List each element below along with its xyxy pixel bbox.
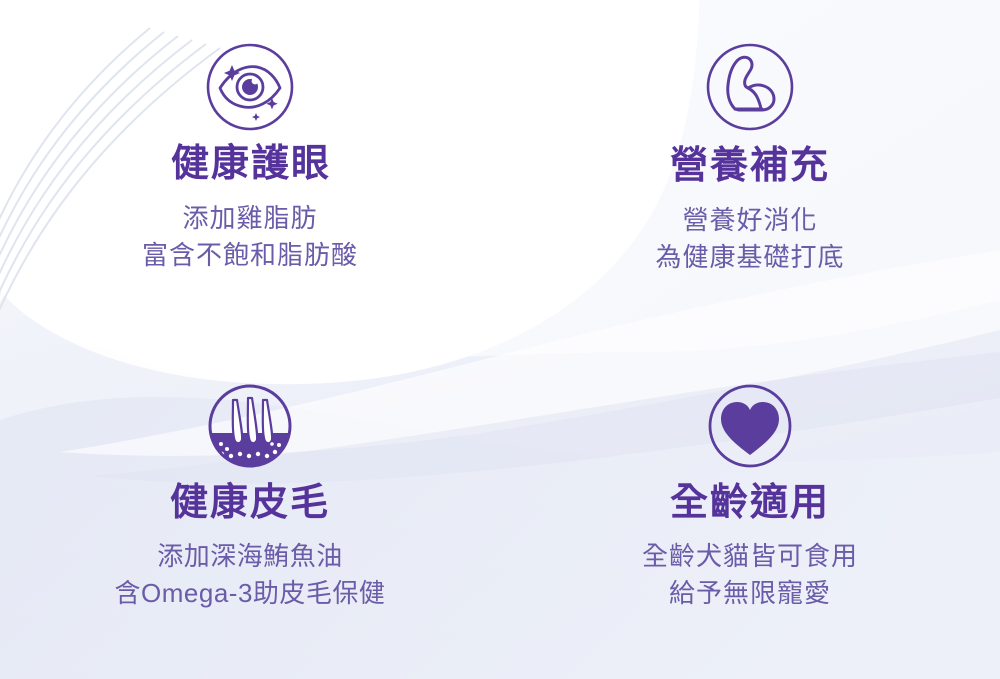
feature-card-all-ages: 全齡適用 全齡犬貓皆可食用 給予無限寵愛 [500, 340, 1000, 679]
feature-description: 添加深海鮪魚油 含Omega-3助皮毛保健 [115, 538, 386, 612]
feature-banner: 健康護眼 添加雞脂肪 富含不飽和脂肪酸 營養補充 營養好消化 為健康基礎打底 [0, 0, 1000, 679]
feature-description: 添加雞脂肪 富含不飽和脂肪酸 [142, 200, 358, 274]
hair-follicle-icon [203, 379, 297, 473]
feature-description-line-1: 營養好消化 [655, 202, 844, 239]
feature-grid: 健康護眼 添加雞脂肪 富含不飽和脂肪酸 營養補充 營養好消化 為健康基礎打底 [0, 0, 1000, 679]
feature-card-nutrition: 營養補充 營養好消化 為健康基礎打底 [500, 0, 1000, 340]
eye-icon [203, 40, 297, 134]
feature-description-line-2: 為健康基礎打底 [655, 239, 844, 276]
flexed-bicep-icon [703, 40, 797, 134]
feature-title: 全齡適用 [670, 483, 830, 525]
feature-description-line-1: 全齡犬貓皆可食用 [642, 538, 858, 575]
feature-description-line-2: 給予無限寵愛 [642, 575, 858, 612]
feature-description-line-1: 添加雞脂肪 [142, 200, 358, 237]
feature-title: 營養補充 [670, 146, 830, 188]
feature-description-line-2: 富含不飽和脂肪酸 [142, 237, 358, 274]
feature-card-eye: 健康護眼 添加雞脂肪 富含不飽和脂肪酸 [0, 0, 500, 340]
feature-title: 健康護眼 [171, 144, 331, 186]
feature-description: 全齡犬貓皆可食用 給予無限寵愛 [642, 538, 858, 612]
heart-icon [703, 379, 797, 473]
feature-description: 營養好消化 為健康基礎打底 [655, 202, 844, 276]
feature-card-coat: 健康皮毛 添加深海鮪魚油 含Omega-3助皮毛保健 [0, 340, 500, 679]
feature-title: 健康皮毛 [170, 483, 330, 525]
feature-description-line-2: 含Omega-3助皮毛保健 [115, 575, 386, 612]
feature-description-line-1: 添加深海鮪魚油 [115, 538, 386, 575]
